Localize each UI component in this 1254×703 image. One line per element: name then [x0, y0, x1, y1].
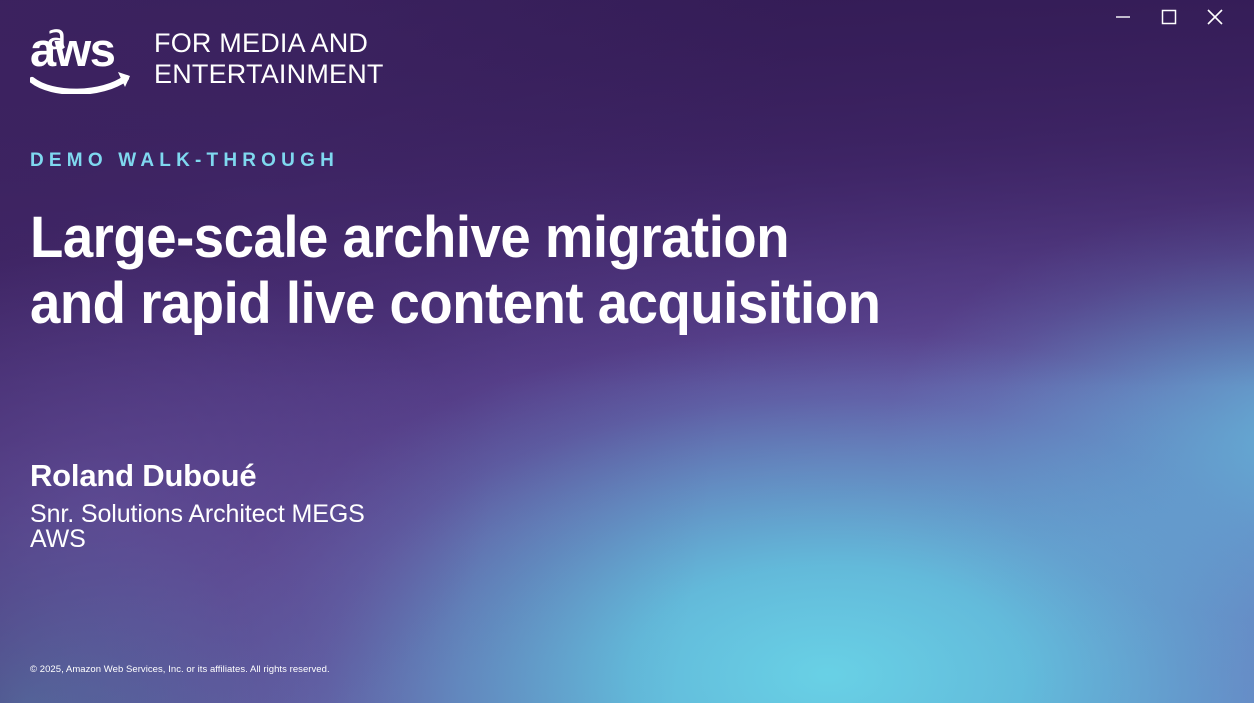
brand-lockup-text: FOR MEDIA AND ENTERTAINMENT [154, 28, 384, 90]
presenter-block: Roland Duboué Snr. Solutions Architect M… [30, 456, 365, 552]
minimize-button[interactable] [1100, 0, 1146, 34]
window-controls [1100, 0, 1254, 34]
background-base-gradient [0, 0, 1254, 703]
presenter-name: Roland Duboué [30, 456, 365, 496]
presenter-org: AWS [30, 527, 365, 552]
background-top-shade [0, 0, 1254, 703]
close-button[interactable] [1192, 0, 1238, 34]
maximize-icon [1158, 6, 1180, 28]
svg-text:aws: aws [30, 26, 115, 76]
background-cyan-arc [0, 0, 1254, 703]
background-bottom-left-haze [0, 0, 1254, 703]
background-cyan-right-lobe [0, 0, 1254, 703]
close-icon [1203, 5, 1227, 29]
lockup-line-1: FOR MEDIA AND [154, 28, 384, 59]
background-left-shade [0, 0, 1254, 703]
presentation-slide: aws FOR MEDIA AND ENTERTAINMENT DEMO WAL… [0, 0, 1254, 703]
slide-title-line-2: and rapid live content acquisition [30, 271, 876, 337]
lockup-line-2: ENTERTAINMENT [154, 59, 384, 90]
minimize-icon [1112, 6, 1134, 28]
presenter-role: Snr. Solutions Architect MEGS [30, 502, 365, 527]
maximize-button[interactable] [1146, 0, 1192, 34]
slide-eyebrow: DEMO WALK-THROUGH [30, 150, 339, 172]
slide-title: Large-scale archive migration and rapid … [30, 205, 876, 337]
aws-brand-lockup: aws FOR MEDIA AND ENTERTAINMENT [30, 26, 384, 94]
presenter-role-block: Snr. Solutions Architect MEGS AWS [30, 502, 365, 552]
background-cyan-left-tail [0, 0, 1254, 703]
slide-title-line-1: Large-scale archive migration [30, 205, 876, 271]
aws-logo-icon: aws [30, 26, 136, 94]
copyright-footer: © 2025, Amazon Web Services, Inc. or its… [30, 664, 330, 675]
